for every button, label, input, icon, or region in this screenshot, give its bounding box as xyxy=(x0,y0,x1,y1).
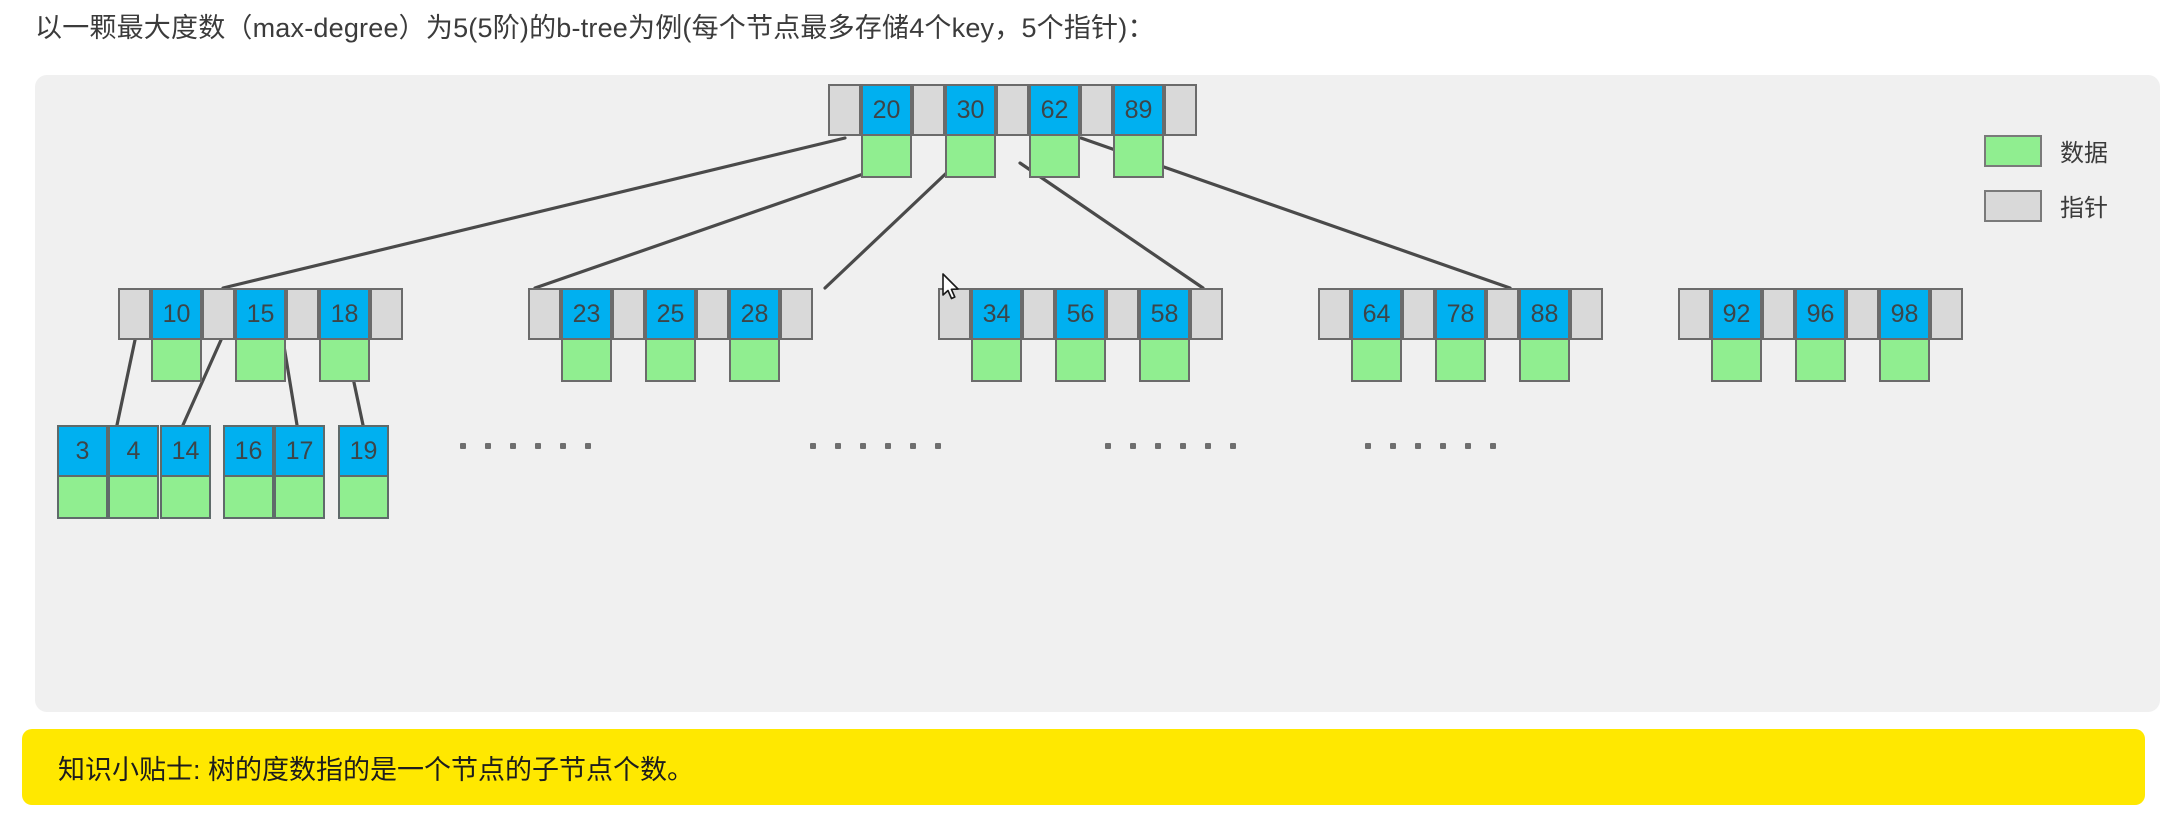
pointer-cell-column[interactable] xyxy=(938,288,971,382)
data-cell[interactable] xyxy=(1435,340,1486,382)
pointer-cell[interactable] xyxy=(828,84,861,136)
ellipsis-dot xyxy=(1490,443,1496,449)
ellipsis-dot xyxy=(1105,443,1111,449)
data-cell[interactable] xyxy=(108,477,159,519)
key-cell[interactable]: 96 xyxy=(1795,288,1846,340)
ellipsis-dot xyxy=(535,443,541,449)
key-cell-column[interactable]: 17 xyxy=(274,425,325,519)
ellipsis-dot xyxy=(1390,443,1396,449)
key-cell[interactable]: 25 xyxy=(645,288,696,340)
pointer-cell[interactable] xyxy=(696,288,729,340)
key-cell-column[interactable]: 18 xyxy=(319,288,370,382)
data-cell[interactable] xyxy=(1519,340,1570,382)
key-cell-column[interactable]: 96 xyxy=(1795,288,1846,382)
pointer-cell[interactable] xyxy=(1022,288,1055,340)
key-cell[interactable]: 4 xyxy=(108,425,159,477)
btree-node-n2[interactable]: 23 25 28 xyxy=(528,288,813,382)
pointer-cell-column[interactable] xyxy=(118,288,151,382)
key-cell[interactable]: 10 xyxy=(151,288,202,340)
ellipsis-dot xyxy=(510,443,516,449)
data-cell[interactable] xyxy=(1795,340,1846,382)
pointer-cell[interactable] xyxy=(118,288,151,340)
pointer-cell[interactable] xyxy=(1678,288,1711,340)
key-cell-column[interactable]: 88 xyxy=(1519,288,1570,382)
pointer-spacer xyxy=(528,340,561,382)
key-cell[interactable]: 98 xyxy=(1879,288,1930,340)
data-cell[interactable] xyxy=(319,340,370,382)
pointer-spacer xyxy=(1402,340,1435,382)
btree-leaf-l4[interactable]: 19 xyxy=(338,425,389,519)
data-cell[interactable] xyxy=(1113,136,1164,178)
data-cell[interactable] xyxy=(1139,340,1190,382)
ellipsis-dot xyxy=(910,443,916,449)
key-cell-column[interactable]: 78 xyxy=(1435,288,1486,382)
pointer-cell[interactable] xyxy=(1930,288,1963,340)
ellipsis-dot xyxy=(810,443,816,449)
key-cell-column[interactable]: 14 xyxy=(160,425,211,519)
pointer-cell-column[interactable] xyxy=(1846,288,1879,382)
pointer-spacer xyxy=(1678,340,1711,382)
key-cell-column[interactable]: 62 xyxy=(1029,84,1080,178)
key-cell[interactable]: 17 xyxy=(274,425,325,477)
pointer-spacer xyxy=(1080,136,1113,178)
pointer-cell-column[interactable] xyxy=(1080,84,1113,178)
pointer-spacer xyxy=(1190,340,1223,382)
diagram-panel: 20 30 62 89 xyxy=(35,75,2160,712)
data-cell[interactable] xyxy=(861,136,912,178)
key-cell-column[interactable]: 98 xyxy=(1879,288,1930,382)
pointer-cell-column[interactable] xyxy=(1022,288,1055,382)
legend-item-data: 数据 xyxy=(1984,133,2108,168)
pointer-cell[interactable] xyxy=(912,84,945,136)
data-cell[interactable] xyxy=(561,340,612,382)
key-cell[interactable]: 15 xyxy=(235,288,286,340)
pointer-spacer xyxy=(118,340,151,382)
pointer-cell-column[interactable] xyxy=(612,288,645,382)
pointer-cell[interactable] xyxy=(612,288,645,340)
key-cell-column[interactable]: 92 xyxy=(1711,288,1762,382)
key-cell-column[interactable]: 20 xyxy=(861,84,912,178)
legend-item-pointer: 指针 xyxy=(1984,188,2108,223)
data-cell[interactable] xyxy=(1351,340,1402,382)
pointer-spacer xyxy=(828,136,861,178)
pointer-cell[interactable] xyxy=(938,288,971,340)
ellipsis-dot xyxy=(1230,443,1236,449)
key-cell[interactable]: 34 xyxy=(971,288,1022,340)
data-cell[interactable] xyxy=(223,477,274,519)
btree-diagram-page: 以一颗最大度数（max-degree）为5(5阶)的b-tree为例(每个节点最… xyxy=(0,0,2173,829)
pointer-cell-column[interactable] xyxy=(528,288,561,382)
pointer-spacer xyxy=(996,136,1029,178)
pointer-cell-column[interactable] xyxy=(1930,288,1963,382)
key-cell-column[interactable]: 28 xyxy=(729,288,780,382)
pointer-cell[interactable] xyxy=(370,288,403,340)
key-cell-column[interactable]: 23 xyxy=(561,288,612,382)
ellipsis-dot xyxy=(1130,443,1136,449)
btree-node-root[interactable]: 20 30 62 89 xyxy=(828,84,1197,178)
pointer-spacer xyxy=(286,340,319,382)
pointer-spacer xyxy=(1930,340,1963,382)
key-cell-column[interactable]: 58 xyxy=(1139,288,1190,382)
key-cell-column[interactable]: 56 xyxy=(1055,288,1106,382)
pointer-spacer xyxy=(912,136,945,178)
ellipsis-group-3 xyxy=(1105,443,1236,449)
edge-root-to-n2 xyxy=(535,163,895,288)
pointer-cell[interactable] xyxy=(1570,288,1603,340)
pointer-cell[interactable] xyxy=(996,84,1029,136)
pointer-cell-column[interactable] xyxy=(286,288,319,382)
key-cell-column[interactable]: 30 xyxy=(945,84,996,178)
pointer-cell[interactable] xyxy=(1106,288,1139,340)
pointer-spacer xyxy=(612,340,645,382)
pointer-cell[interactable] xyxy=(780,288,813,340)
pointer-spacer xyxy=(1762,340,1795,382)
key-cell[interactable]: 62 xyxy=(1029,84,1080,136)
pointer-cell-column[interactable] xyxy=(780,288,813,382)
key-cell-column[interactable]: 19 xyxy=(338,425,389,519)
pointer-spacer xyxy=(696,340,729,382)
key-cell[interactable]: 30 xyxy=(945,84,996,136)
pointer-spacer xyxy=(780,340,813,382)
ellipsis-dot xyxy=(1465,443,1471,449)
key-cell[interactable]: 3 xyxy=(57,425,108,477)
key-cell-column[interactable]: 89 xyxy=(1113,84,1164,178)
data-cell[interactable] xyxy=(645,340,696,382)
legend: 数据 指针 xyxy=(1984,133,2108,223)
btree-leaf-l1[interactable]: 3 4 xyxy=(57,425,159,519)
pointer-cell-column[interactable] xyxy=(1570,288,1603,382)
ellipsis-dot xyxy=(585,443,591,449)
key-cell-column[interactable]: 25 xyxy=(645,288,696,382)
btree-node-n5[interactable]: 92 96 98 xyxy=(1678,288,1963,382)
page-caption: 以一颗最大度数（max-degree）为5(5阶)的b-tree为例(每个节点最… xyxy=(35,8,2135,48)
pointer-cell[interactable] xyxy=(1190,288,1223,340)
pointer-spacer xyxy=(938,340,971,382)
pointer-cell[interactable] xyxy=(1762,288,1795,340)
key-cell-column[interactable]: 10 xyxy=(151,288,202,382)
pointer-cell-column[interactable] xyxy=(1164,84,1197,178)
key-cell[interactable]: 92 xyxy=(1711,288,1762,340)
tip-bar: 知识小贴士: 树的度数指的是一个节点的子节点个数。 xyxy=(22,729,2145,805)
key-cell[interactable]: 64 xyxy=(1351,288,1402,340)
pointer-spacer xyxy=(1164,136,1197,178)
edge-root-to-n3 xyxy=(825,163,957,288)
data-cell[interactable] xyxy=(274,477,325,519)
key-cell[interactable]: 58 xyxy=(1139,288,1190,340)
pointer-cell-column[interactable] xyxy=(1318,288,1351,382)
pointer-swatch-icon xyxy=(1984,190,2042,222)
key-cell[interactable]: 16 xyxy=(223,425,274,477)
ellipsis-group-2 xyxy=(810,443,941,449)
key-cell-column[interactable]: 34 xyxy=(971,288,1022,382)
pointer-cell-column[interactable] xyxy=(696,288,729,382)
key-cell[interactable]: 88 xyxy=(1519,288,1570,340)
btree-node-n1[interactable]: 10 15 18 xyxy=(118,288,403,382)
data-cell[interactable] xyxy=(1055,340,1106,382)
key-cell[interactable]: 78 xyxy=(1435,288,1486,340)
data-cell[interactable] xyxy=(1029,136,1080,178)
pointer-cell-column[interactable] xyxy=(1402,288,1435,382)
pointer-cell-column[interactable] xyxy=(1678,288,1711,382)
pointer-cell[interactable] xyxy=(202,288,235,340)
ellipsis-dot xyxy=(460,443,466,449)
pointer-cell-column[interactable] xyxy=(370,288,403,382)
ellipsis-group-1 xyxy=(460,443,591,449)
btree-node-n3[interactable]: 34 56 58 xyxy=(938,288,1223,382)
key-cell[interactable]: 20 xyxy=(861,84,912,136)
ellipsis-dot xyxy=(560,443,566,449)
pointer-spacer xyxy=(1570,340,1603,382)
legend-label: 指针 xyxy=(2060,188,2108,223)
pointer-spacer xyxy=(1022,340,1055,382)
key-cell[interactable]: 14 xyxy=(160,425,211,477)
edge-root-to-n4 xyxy=(1020,163,1203,288)
data-cell[interactable] xyxy=(151,340,202,382)
key-cell[interactable]: 23 xyxy=(561,288,612,340)
pointer-cell[interactable] xyxy=(286,288,319,340)
pointer-cell-column[interactable] xyxy=(1486,288,1519,382)
ellipsis-dot xyxy=(1365,443,1371,449)
pointer-cell[interactable] xyxy=(1846,288,1879,340)
ellipsis-dot xyxy=(1440,443,1446,449)
pointer-cell-column[interactable] xyxy=(912,84,945,178)
key-cell-column[interactable]: 3 xyxy=(57,425,108,519)
pointer-spacer xyxy=(1106,340,1139,382)
pointer-spacer xyxy=(1486,340,1519,382)
key-cell[interactable]: 56 xyxy=(1055,288,1106,340)
pointer-cell-column[interactable] xyxy=(828,84,861,178)
edge-root-to-n1 xyxy=(223,138,845,288)
key-cell[interactable]: 19 xyxy=(338,425,389,477)
tip-text: 知识小贴士: 树的度数指的是一个节点的子节点个数。 xyxy=(58,748,694,787)
ellipsis-dot xyxy=(485,443,491,449)
pointer-cell[interactable] xyxy=(1318,288,1351,340)
pointer-cell[interactable] xyxy=(528,288,561,340)
key-cell-column[interactable]: 16 xyxy=(223,425,274,519)
key-cell[interactable]: 28 xyxy=(729,288,780,340)
key-cell-column[interactable]: 15 xyxy=(235,288,286,382)
ellipsis-dot xyxy=(1155,443,1161,449)
pointer-spacer xyxy=(202,340,235,382)
key-cell[interactable]: 18 xyxy=(319,288,370,340)
data-cell[interactable] xyxy=(160,477,211,519)
ellipsis-dot xyxy=(835,443,841,449)
btree-leaf-l3[interactable]: 16 17 xyxy=(223,425,325,519)
pointer-spacer xyxy=(1318,340,1351,382)
data-cell[interactable] xyxy=(57,477,108,519)
data-cell[interactable] xyxy=(338,477,389,519)
ellipsis-dot xyxy=(1415,443,1421,449)
data-cell[interactable] xyxy=(235,340,286,382)
key-cell-column[interactable]: 4 xyxy=(108,425,159,519)
ellipsis-dot xyxy=(1205,443,1211,449)
data-cell[interactable] xyxy=(945,136,996,178)
btree-leaf-l2[interactable]: 14 xyxy=(160,425,211,519)
pointer-cell-column[interactable] xyxy=(1762,288,1795,382)
pointer-cell-column[interactable] xyxy=(996,84,1029,178)
ellipsis-dot xyxy=(860,443,866,449)
data-cell[interactable] xyxy=(1879,340,1930,382)
btree-node-n4[interactable]: 64 78 88 xyxy=(1318,288,1603,382)
data-swatch-icon xyxy=(1984,135,2042,167)
data-cell[interactable] xyxy=(971,340,1022,382)
key-cell-column[interactable]: 64 xyxy=(1351,288,1402,382)
pointer-spacer xyxy=(1846,340,1879,382)
pointer-cell[interactable] xyxy=(1486,288,1519,340)
pointer-cell-column[interactable] xyxy=(1106,288,1139,382)
pointer-cell-column[interactable] xyxy=(202,288,235,382)
data-cell[interactable] xyxy=(729,340,780,382)
pointer-spacer xyxy=(370,340,403,382)
ellipsis-dot xyxy=(1180,443,1186,449)
legend-label: 数据 xyxy=(2060,133,2108,168)
ellipsis-group-4 xyxy=(1365,443,1496,449)
pointer-cell-column[interactable] xyxy=(1190,288,1223,382)
key-cell[interactable]: 89 xyxy=(1113,84,1164,136)
ellipsis-dot xyxy=(885,443,891,449)
pointer-cell[interactable] xyxy=(1164,84,1197,136)
ellipsis-dot xyxy=(935,443,941,449)
pointer-cell[interactable] xyxy=(1080,84,1113,136)
pointer-cell[interactable] xyxy=(1402,288,1435,340)
data-cell[interactable] xyxy=(1711,340,1762,382)
